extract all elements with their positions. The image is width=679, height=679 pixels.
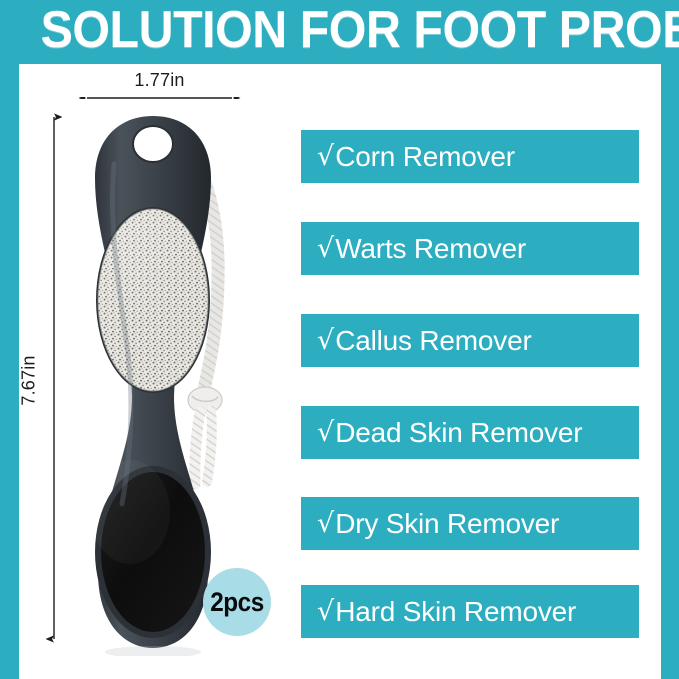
feature-label: Dry Skin Remover: [335, 510, 559, 538]
quantity-badge-label: 2pcs: [206, 568, 267, 636]
feature-label: Hard Skin Remover: [335, 598, 576, 626]
width-dimension-arrow: [78, 97, 241, 99]
feature-label: Warts Remover: [335, 235, 526, 263]
check-icon: √: [317, 598, 334, 625]
feature-list: √ Corn Remover √ Warts Remover √ Callus …: [301, 130, 639, 638]
check-icon: √: [317, 327, 334, 354]
height-dimension-label: 7.67in: [19, 345, 40, 417]
height-dimension-arrow: [46, 108, 62, 648]
check-icon: √: [317, 143, 334, 170]
feature-label: Corn Remover: [335, 143, 515, 171]
feature-item-hard-skin-remover: √ Hard Skin Remover: [301, 585, 639, 638]
feature-item-dead-skin-remover: √ Dead Skin Remover: [301, 406, 639, 459]
feature-label: Callus Remover: [335, 327, 531, 355]
feature-item-dry-skin-remover: √ Dry Skin Remover: [301, 497, 639, 550]
width-dimension-label: 1.77in: [78, 70, 241, 91]
title-band: SOLUTION FOR FOOT PROBLEM: [0, 0, 679, 64]
check-icon: √: [317, 235, 334, 262]
feature-label: Dead Skin Remover: [335, 419, 582, 447]
product-infographic: SOLUTION FOR FOOT PROBLEM 1.77in 7.67in: [0, 0, 679, 679]
feature-item-corn-remover: √ Corn Remover: [301, 130, 639, 183]
check-icon: √: [317, 510, 334, 537]
feature-item-callus-remover: √ Callus Remover: [301, 314, 639, 367]
feature-item-warts-remover: √ Warts Remover: [301, 222, 639, 275]
check-icon: √: [317, 419, 334, 446]
page-title: SOLUTION FOR FOOT PROBLEM: [41, 1, 642, 61]
